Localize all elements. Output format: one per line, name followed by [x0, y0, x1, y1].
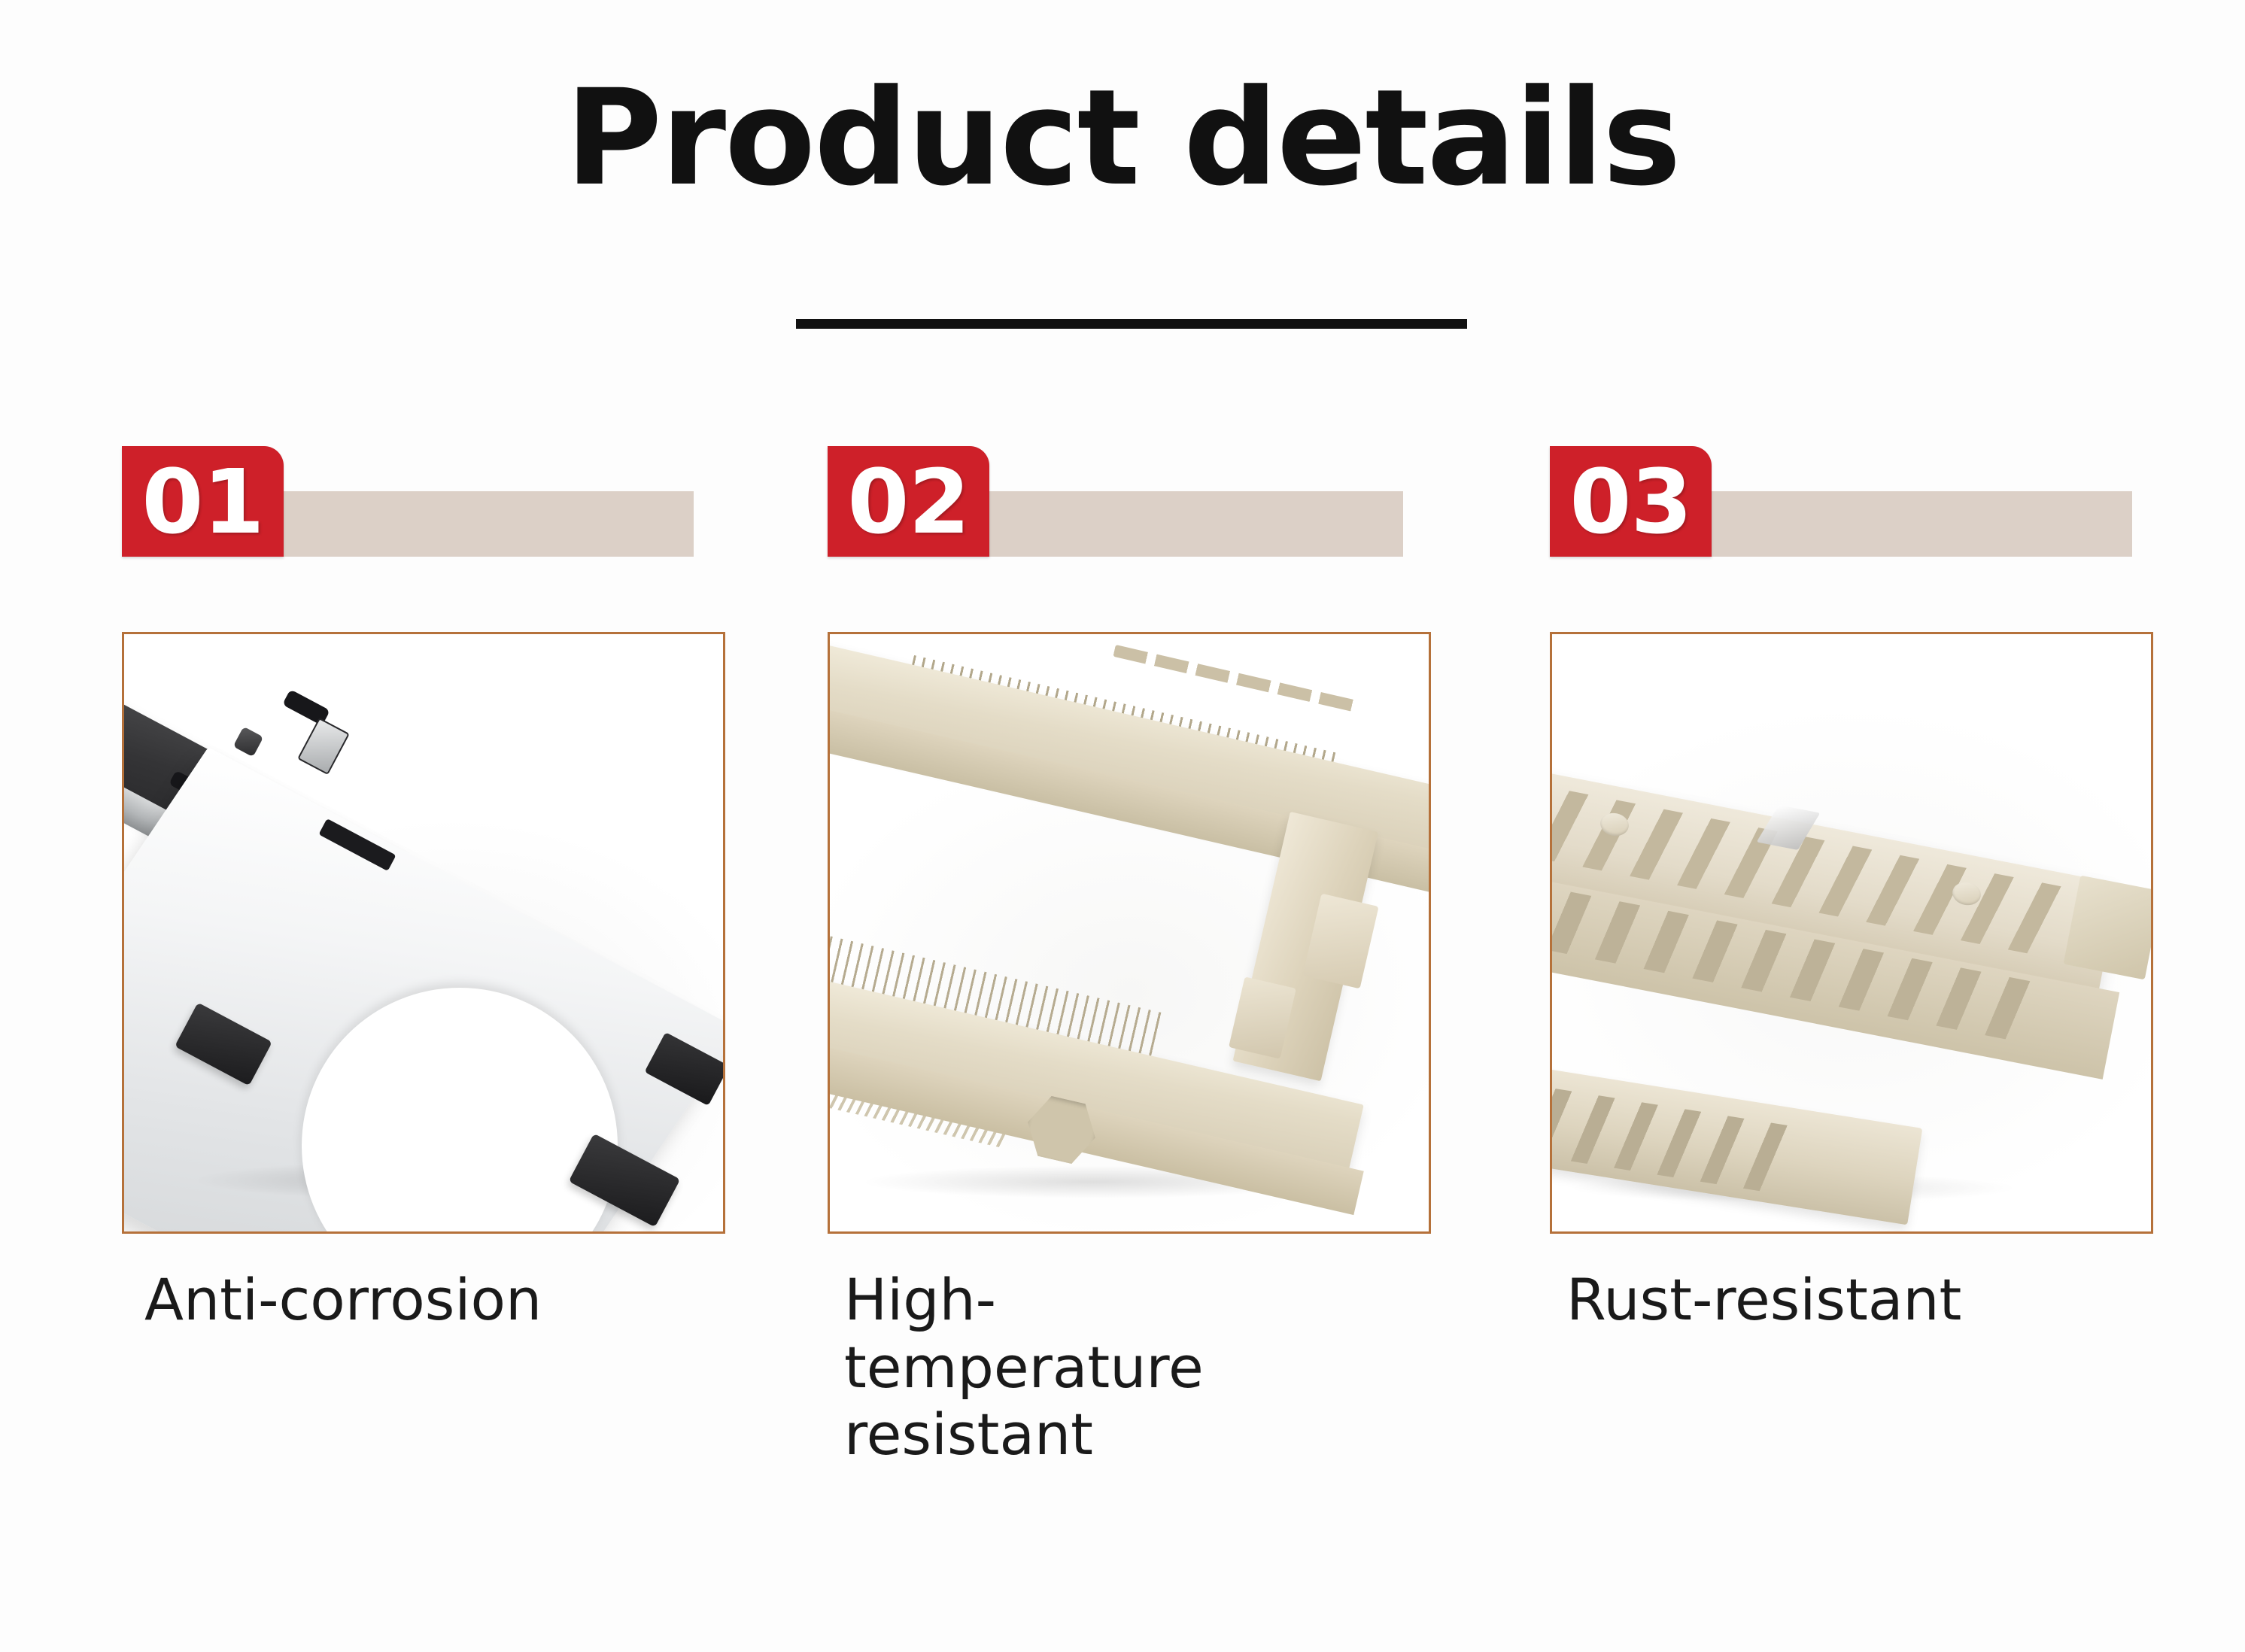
feature-column-2: 02: [828, 444, 1497, 558]
feature-caption-1: Anti-corrosion: [144, 1266, 671, 1334]
feature-column-1: 01: [122, 444, 791, 558]
feature-caption-3: Rust-resistant: [1566, 1266, 2093, 1334]
badge-number-label: 03: [1550, 457, 1712, 546]
badge-row-2: 02: [828, 444, 1497, 558]
number-badge-03: 03: [1550, 446, 1712, 557]
product-photo-1: [124, 634, 723, 1231]
badge-accent-bar: [987, 491, 1403, 557]
badge-accent-bar: [1709, 491, 2132, 557]
feature-columns: 01: [0, 0, 2245, 1652]
product-photo-frame-1[interactable]: [122, 632, 725, 1234]
feature-caption-2: High-temperature resistant: [844, 1266, 1160, 1468]
number-badge-01: 01: [122, 446, 284, 557]
badge-number-label: 01: [122, 457, 284, 546]
badge-row-3: 03: [1550, 444, 2219, 558]
feature-column-3: 03: [1550, 444, 2219, 558]
product-photo-2: [830, 634, 1429, 1231]
number-badge-02: 02: [828, 446, 989, 557]
badge-accent-bar: [281, 491, 694, 557]
product-photo-3: [1552, 634, 2151, 1231]
product-photo-frame-2[interactable]: [828, 632, 1431, 1234]
badge-number-label: 02: [828, 457, 989, 546]
product-photo-frame-3[interactable]: [1550, 632, 2153, 1234]
badge-row-1: 01: [122, 444, 791, 558]
product-details-page: Product details 01: [0, 0, 2245, 1652]
